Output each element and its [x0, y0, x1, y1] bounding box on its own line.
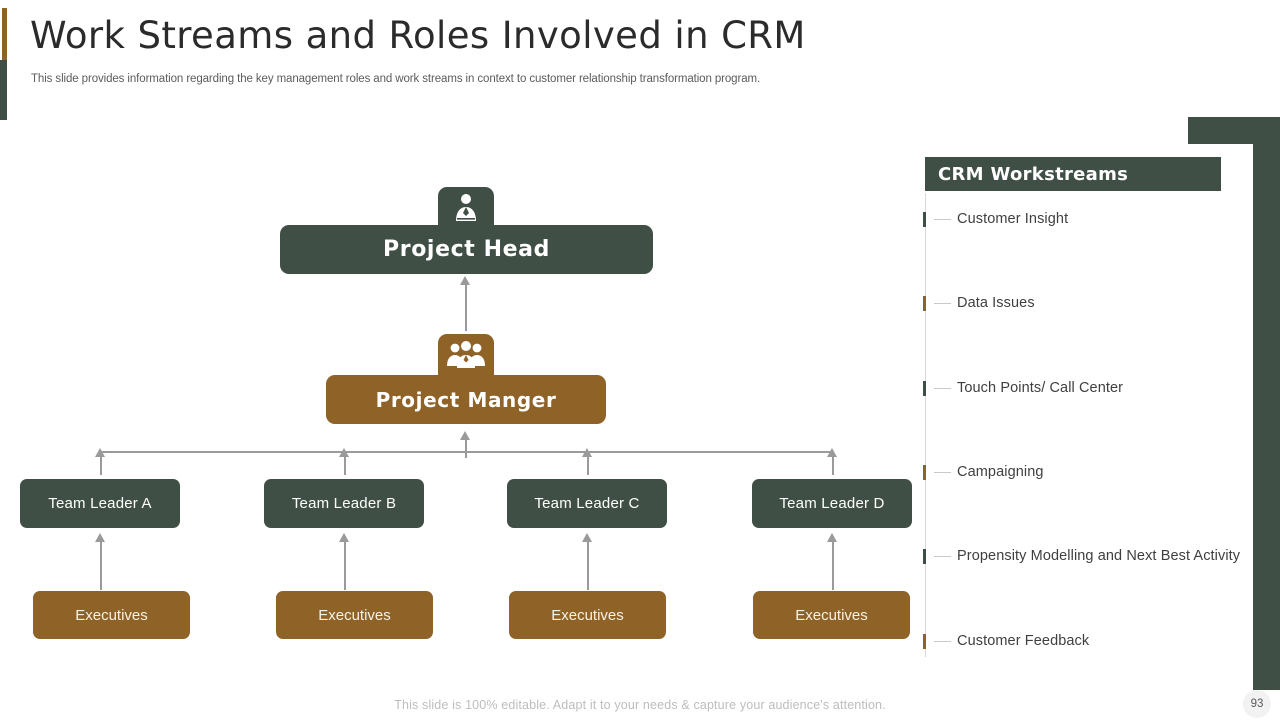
connector-leader-3	[832, 455, 834, 475]
org-chart: Project Head Project Manger Team Leader …	[0, 100, 910, 660]
workstream-tick-1	[923, 296, 926, 311]
arrowhead-exec-0	[95, 533, 105, 542]
node-executives-a-label: Executives	[75, 607, 148, 624]
workstream-dash-5	[934, 641, 951, 642]
decorative-top-bar	[1188, 117, 1280, 144]
node-executives-c-label: Executives	[551, 607, 624, 624]
node-executives-d[interactable]: Executives	[753, 591, 910, 639]
node-team-leader-d[interactable]: Team Leader D	[752, 479, 912, 528]
workstream-label-2: Touch Points/ Call Center	[957, 380, 1123, 396]
arrowhead-exec-1	[339, 533, 349, 542]
node-team-leader-a[interactable]: Team Leader A	[20, 479, 180, 528]
workstream-tick-0	[923, 212, 926, 227]
connector-leader-0	[100, 455, 102, 475]
arrowhead-to-manager	[460, 431, 470, 440]
arrowhead-leader-3	[827, 448, 837, 457]
workstream-dash-1	[934, 303, 951, 304]
workstream-dash-2	[934, 388, 951, 389]
workstream-label-5: Customer Feedback	[957, 633, 1089, 649]
arrowhead-exec-3	[827, 533, 837, 542]
node-executives-c[interactable]: Executives	[509, 591, 666, 639]
workstream-tick-4	[923, 549, 926, 564]
arrowhead-to-head	[460, 276, 470, 285]
page-subtitle: This slide provides information regardin…	[31, 73, 760, 85]
workstream-tick-5	[923, 634, 926, 649]
crm-workstreams-panel: CRM Workstreams Customer Insight Data Is…	[923, 157, 1253, 657]
node-project-manager-label: Project Manger	[376, 388, 557, 412]
page-number-badge: 93	[1243, 690, 1271, 718]
connector-exec-0	[100, 540, 102, 590]
node-team-leader-a-label: Team Leader A	[48, 495, 152, 512]
connector-leader-1	[344, 455, 346, 475]
node-team-leader-d-label: Team Leader D	[779, 495, 884, 512]
workstream-dash-3	[934, 472, 951, 473]
workstream-label-4: Propensity Modelling and Next Best Activ…	[957, 548, 1240, 564]
node-team-leader-c-label: Team Leader C	[534, 495, 639, 512]
node-executives-d-label: Executives	[795, 607, 868, 624]
decorative-right-bar	[1253, 144, 1280, 690]
arrowhead-leader-0	[95, 448, 105, 457]
node-project-head-label: Project Head	[383, 237, 550, 262]
workstream-label-0: Customer Insight	[957, 211, 1068, 227]
project-manager-icon-tab	[438, 334, 494, 380]
node-project-head[interactable]: Project Head	[280, 225, 653, 274]
connector-horizontal-bus	[100, 451, 833, 453]
arrowhead-leader-2	[582, 448, 592, 457]
crm-workstreams-header-label: CRM Workstreams	[938, 164, 1128, 185]
arrowhead-exec-2	[582, 533, 592, 542]
group-people-icon	[438, 338, 494, 377]
workstream-label-1: Data Issues	[957, 295, 1035, 311]
footer-note: This slide is 100% editable. Adapt it to…	[0, 698, 1280, 712]
node-project-manager[interactable]: Project Manger	[326, 375, 606, 424]
crm-workstreams-header: CRM Workstreams	[925, 157, 1221, 191]
connector-leader-2	[587, 455, 589, 475]
workstream-dash-4	[934, 556, 951, 557]
arrowhead-leader-1	[339, 448, 349, 457]
connector-exec-3	[832, 540, 834, 590]
connector-manager-to-head	[465, 283, 467, 331]
connector-exec-1	[344, 540, 346, 590]
workstream-tick-3	[923, 465, 926, 480]
workstream-label-3: Campaigning	[957, 464, 1044, 480]
workstreams-timeline-spine	[925, 193, 926, 657]
page-title: Work Streams and Roles Involved in CRM	[30, 14, 806, 57]
connector-bus-to-manager	[465, 438, 467, 458]
connector-exec-2	[587, 540, 589, 590]
node-team-leader-c[interactable]: Team Leader C	[507, 479, 667, 528]
node-team-leader-b[interactable]: Team Leader B	[264, 479, 424, 528]
node-executives-b-label: Executives	[318, 607, 391, 624]
node-executives-b[interactable]: Executives	[276, 591, 433, 639]
workstream-tick-2	[923, 381, 926, 396]
node-executives-a[interactable]: Executives	[33, 591, 190, 639]
workstream-dash-0	[934, 219, 951, 220]
accent-segment-gold	[2, 8, 7, 60]
node-team-leader-b-label: Team Leader B	[292, 495, 396, 512]
